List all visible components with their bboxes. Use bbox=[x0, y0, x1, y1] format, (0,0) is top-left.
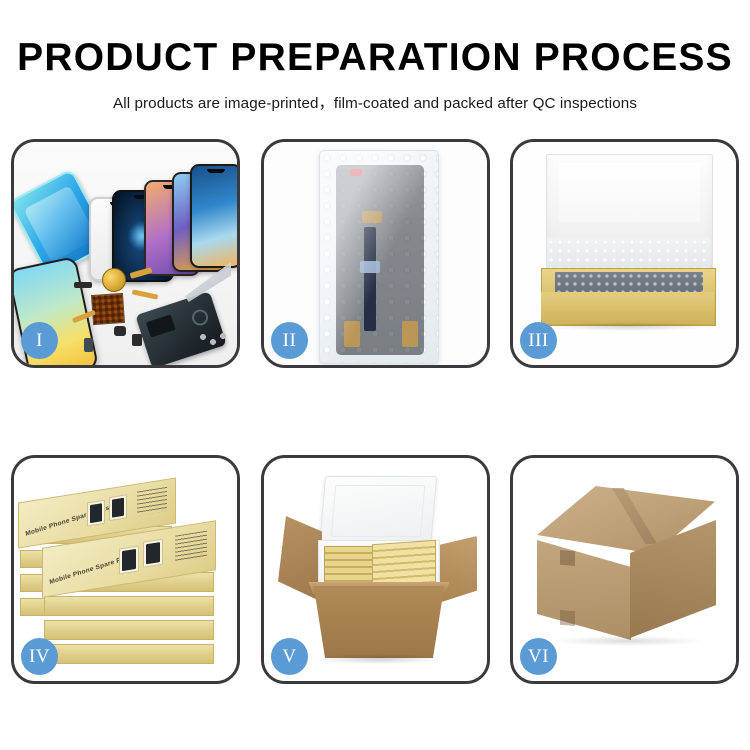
chip-array-icon bbox=[91, 293, 125, 325]
page-subtitle: All products are image-printed，film-coat… bbox=[0, 77, 750, 113]
bubble-wrap-icon bbox=[319, 150, 439, 364]
battery-part-icon bbox=[84, 338, 93, 352]
carton-body-icon bbox=[308, 586, 450, 658]
step-badge-1: I bbox=[21, 322, 58, 359]
screws-icon bbox=[199, 333, 229, 347]
kraft-tray-front-icon bbox=[541, 292, 714, 324]
page-header: PRODUCT PREPARATION PROCESS All products… bbox=[0, 0, 750, 113]
carton-seam-icon bbox=[560, 550, 575, 566]
step-badge-2: II bbox=[271, 322, 308, 359]
product-preparation-page: PRODUCT PREPARATION PROCESS All products… bbox=[0, 0, 750, 750]
process-step-panel-4: Mobile Phone Spare Parts Mobile Phone Sp… bbox=[11, 455, 240, 684]
process-step-panel-6: VI bbox=[510, 455, 739, 684]
step-badge-6: VI bbox=[520, 638, 557, 675]
phone-screen-icon bbox=[190, 164, 237, 268]
coil-part-icon bbox=[102, 268, 126, 292]
foam-lid-icon bbox=[319, 476, 437, 548]
process-step-panel-5: V bbox=[261, 455, 490, 684]
step-badge-3: III bbox=[520, 322, 557, 359]
process-step-panel-3: III bbox=[510, 139, 739, 368]
process-step-panel-1: I bbox=[11, 139, 240, 368]
page-title: PRODUCT PREPARATION PROCESS bbox=[0, 0, 750, 77]
process-step-grid: I II bbox=[11, 139, 739, 684]
step-badge-5: V bbox=[271, 638, 308, 675]
connector-part-icon bbox=[132, 334, 142, 346]
camera-part-icon bbox=[114, 326, 126, 336]
carton-seam-icon bbox=[560, 610, 575, 626]
speaker-part-icon bbox=[74, 282, 92, 288]
process-step-panel-2: II bbox=[261, 139, 490, 368]
step-badge-4: IV bbox=[21, 638, 58, 675]
